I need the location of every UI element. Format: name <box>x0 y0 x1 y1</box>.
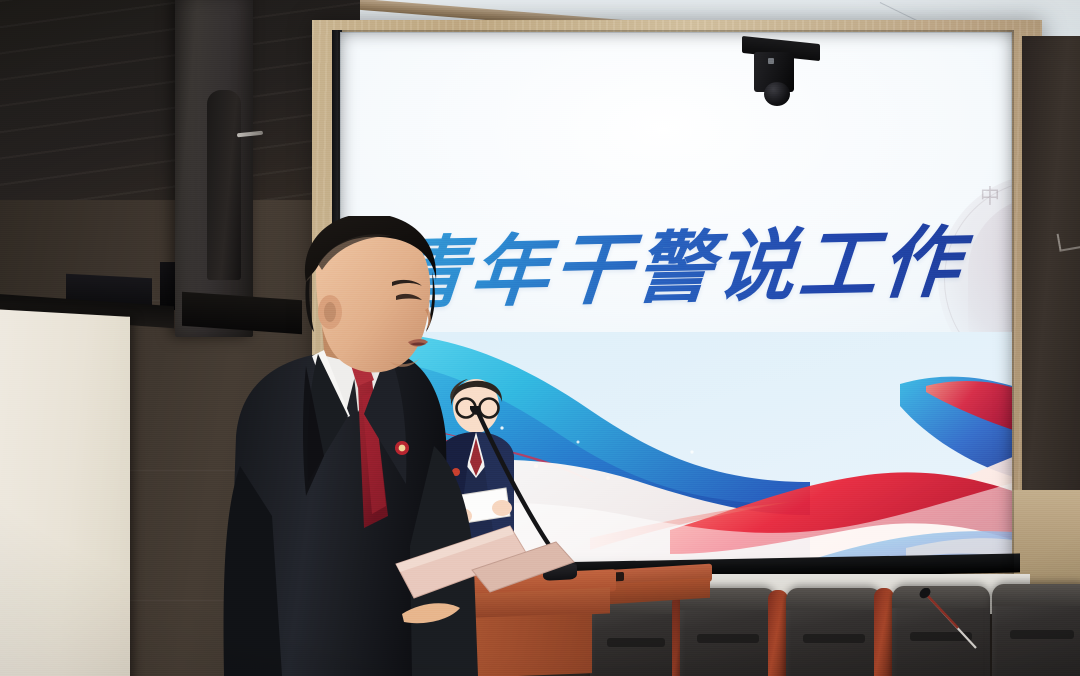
speech-paper-secondary <box>470 540 590 600</box>
seat <box>680 588 776 676</box>
seat-crease <box>697 634 758 643</box>
dark-wall-right <box>1022 36 1080 506</box>
seat <box>992 584 1080 676</box>
seat-headrest <box>786 588 882 610</box>
seat-armrest <box>768 590 788 676</box>
camera-led <box>768 58 774 64</box>
desk-mic-svg <box>918 588 988 654</box>
seat <box>786 588 882 676</box>
camera-lens <box>764 82 790 106</box>
seat-crease <box>1010 630 1074 639</box>
photo-scene: 中国检察 ZHONGGUO JIANCHA <box>0 0 1080 676</box>
desk-microphone <box>918 588 988 654</box>
ceiling-camera-icon <box>742 40 820 106</box>
cream-wall-panel <box>0 309 130 676</box>
wall-hook <box>1057 230 1080 252</box>
seat-headrest <box>992 584 1080 606</box>
seat-crease <box>803 634 864 643</box>
seat-armrest <box>874 588 894 676</box>
